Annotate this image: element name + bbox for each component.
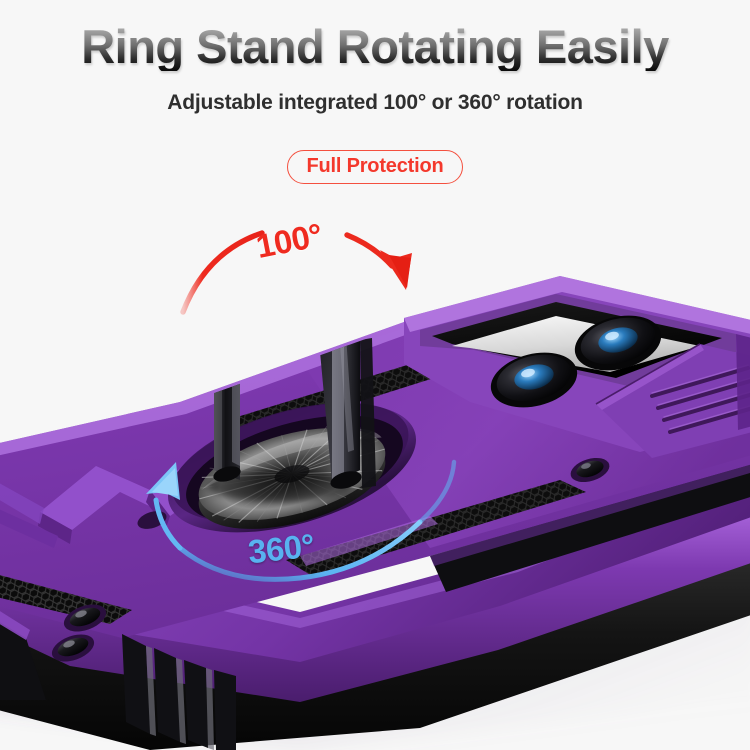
product-photo (0, 0, 750, 750)
spin-angle-label: 360° (246, 527, 316, 572)
product-marketing-image: Ring Stand Rotating Easily Adjustable in… (0, 0, 750, 750)
